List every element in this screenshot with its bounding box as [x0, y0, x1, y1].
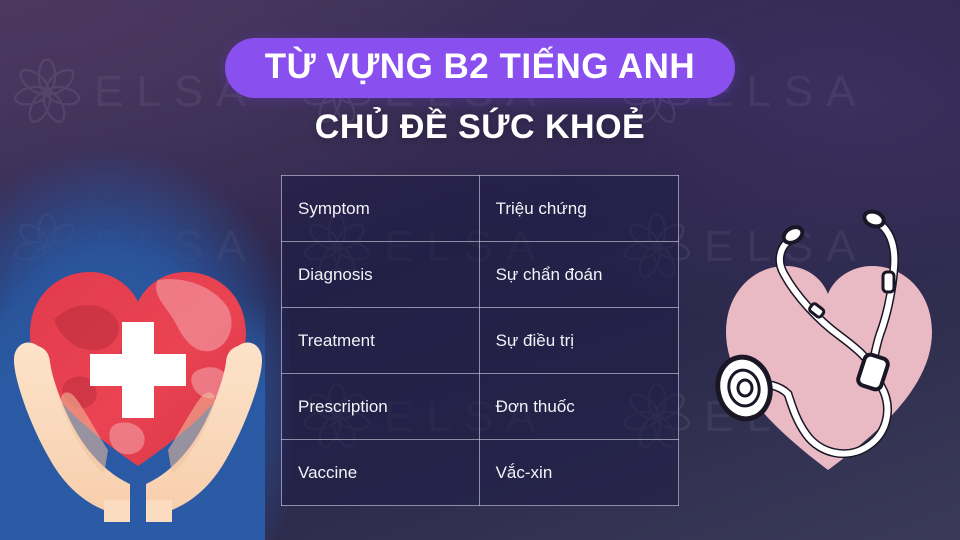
cell-vietnamese: Sự chẩn đoán [479, 242, 678, 308]
cell-english: Prescription [282, 374, 480, 440]
cell-vietnamese: Triệu chứng [479, 176, 678, 242]
right-wrist [146, 500, 172, 522]
title-block: TỪ VỰNG B2 TIẾNG ANH CHỦ ĐỀ SỨC KHOẺ [0, 38, 960, 147]
vocabulary-table: Symptom Triệu chứng Diagnosis Sự chẩn đo… [281, 175, 679, 506]
table-row: Diagnosis Sự chẩn đoán [282, 242, 679, 308]
cell-english: Treatment [282, 308, 480, 374]
table-row: Prescription Đơn thuốc [282, 374, 679, 440]
badge-title-text: TỪ VỰNG B2 TIẾNG ANH [265, 49, 695, 84]
table-row: Vaccine Vắc-xin [282, 440, 679, 506]
poster-canvas: ELSA ELSA ELSA [0, 0, 960, 540]
cell-english: Diagnosis [282, 242, 480, 308]
table-row: Treatment Sự điều trị [282, 308, 679, 374]
cell-english: Symptom [282, 176, 480, 242]
stethoscope-spring [883, 272, 894, 292]
hands-holding-heart-illustration [8, 228, 268, 528]
cell-vietnamese: Sự điều trị [479, 308, 678, 374]
title-badge: TỪ VỰNG B2 TIẾNG ANH [225, 38, 735, 98]
cell-vietnamese: Đơn thuốc [479, 374, 678, 440]
subtitle-text: CHỦ ĐỀ SỨC KHOẺ [0, 108, 960, 147]
stethoscope-eartip-right [862, 209, 886, 229]
table-row: Symptom Triệu chứng [282, 176, 679, 242]
cell-vietnamese: Vắc-xin [479, 440, 678, 506]
stethoscope-heart-illustration [700, 208, 955, 498]
left-wrist [104, 500, 130, 522]
stethoscope-eartip-left [781, 224, 805, 246]
cell-english: Vaccine [282, 440, 480, 506]
